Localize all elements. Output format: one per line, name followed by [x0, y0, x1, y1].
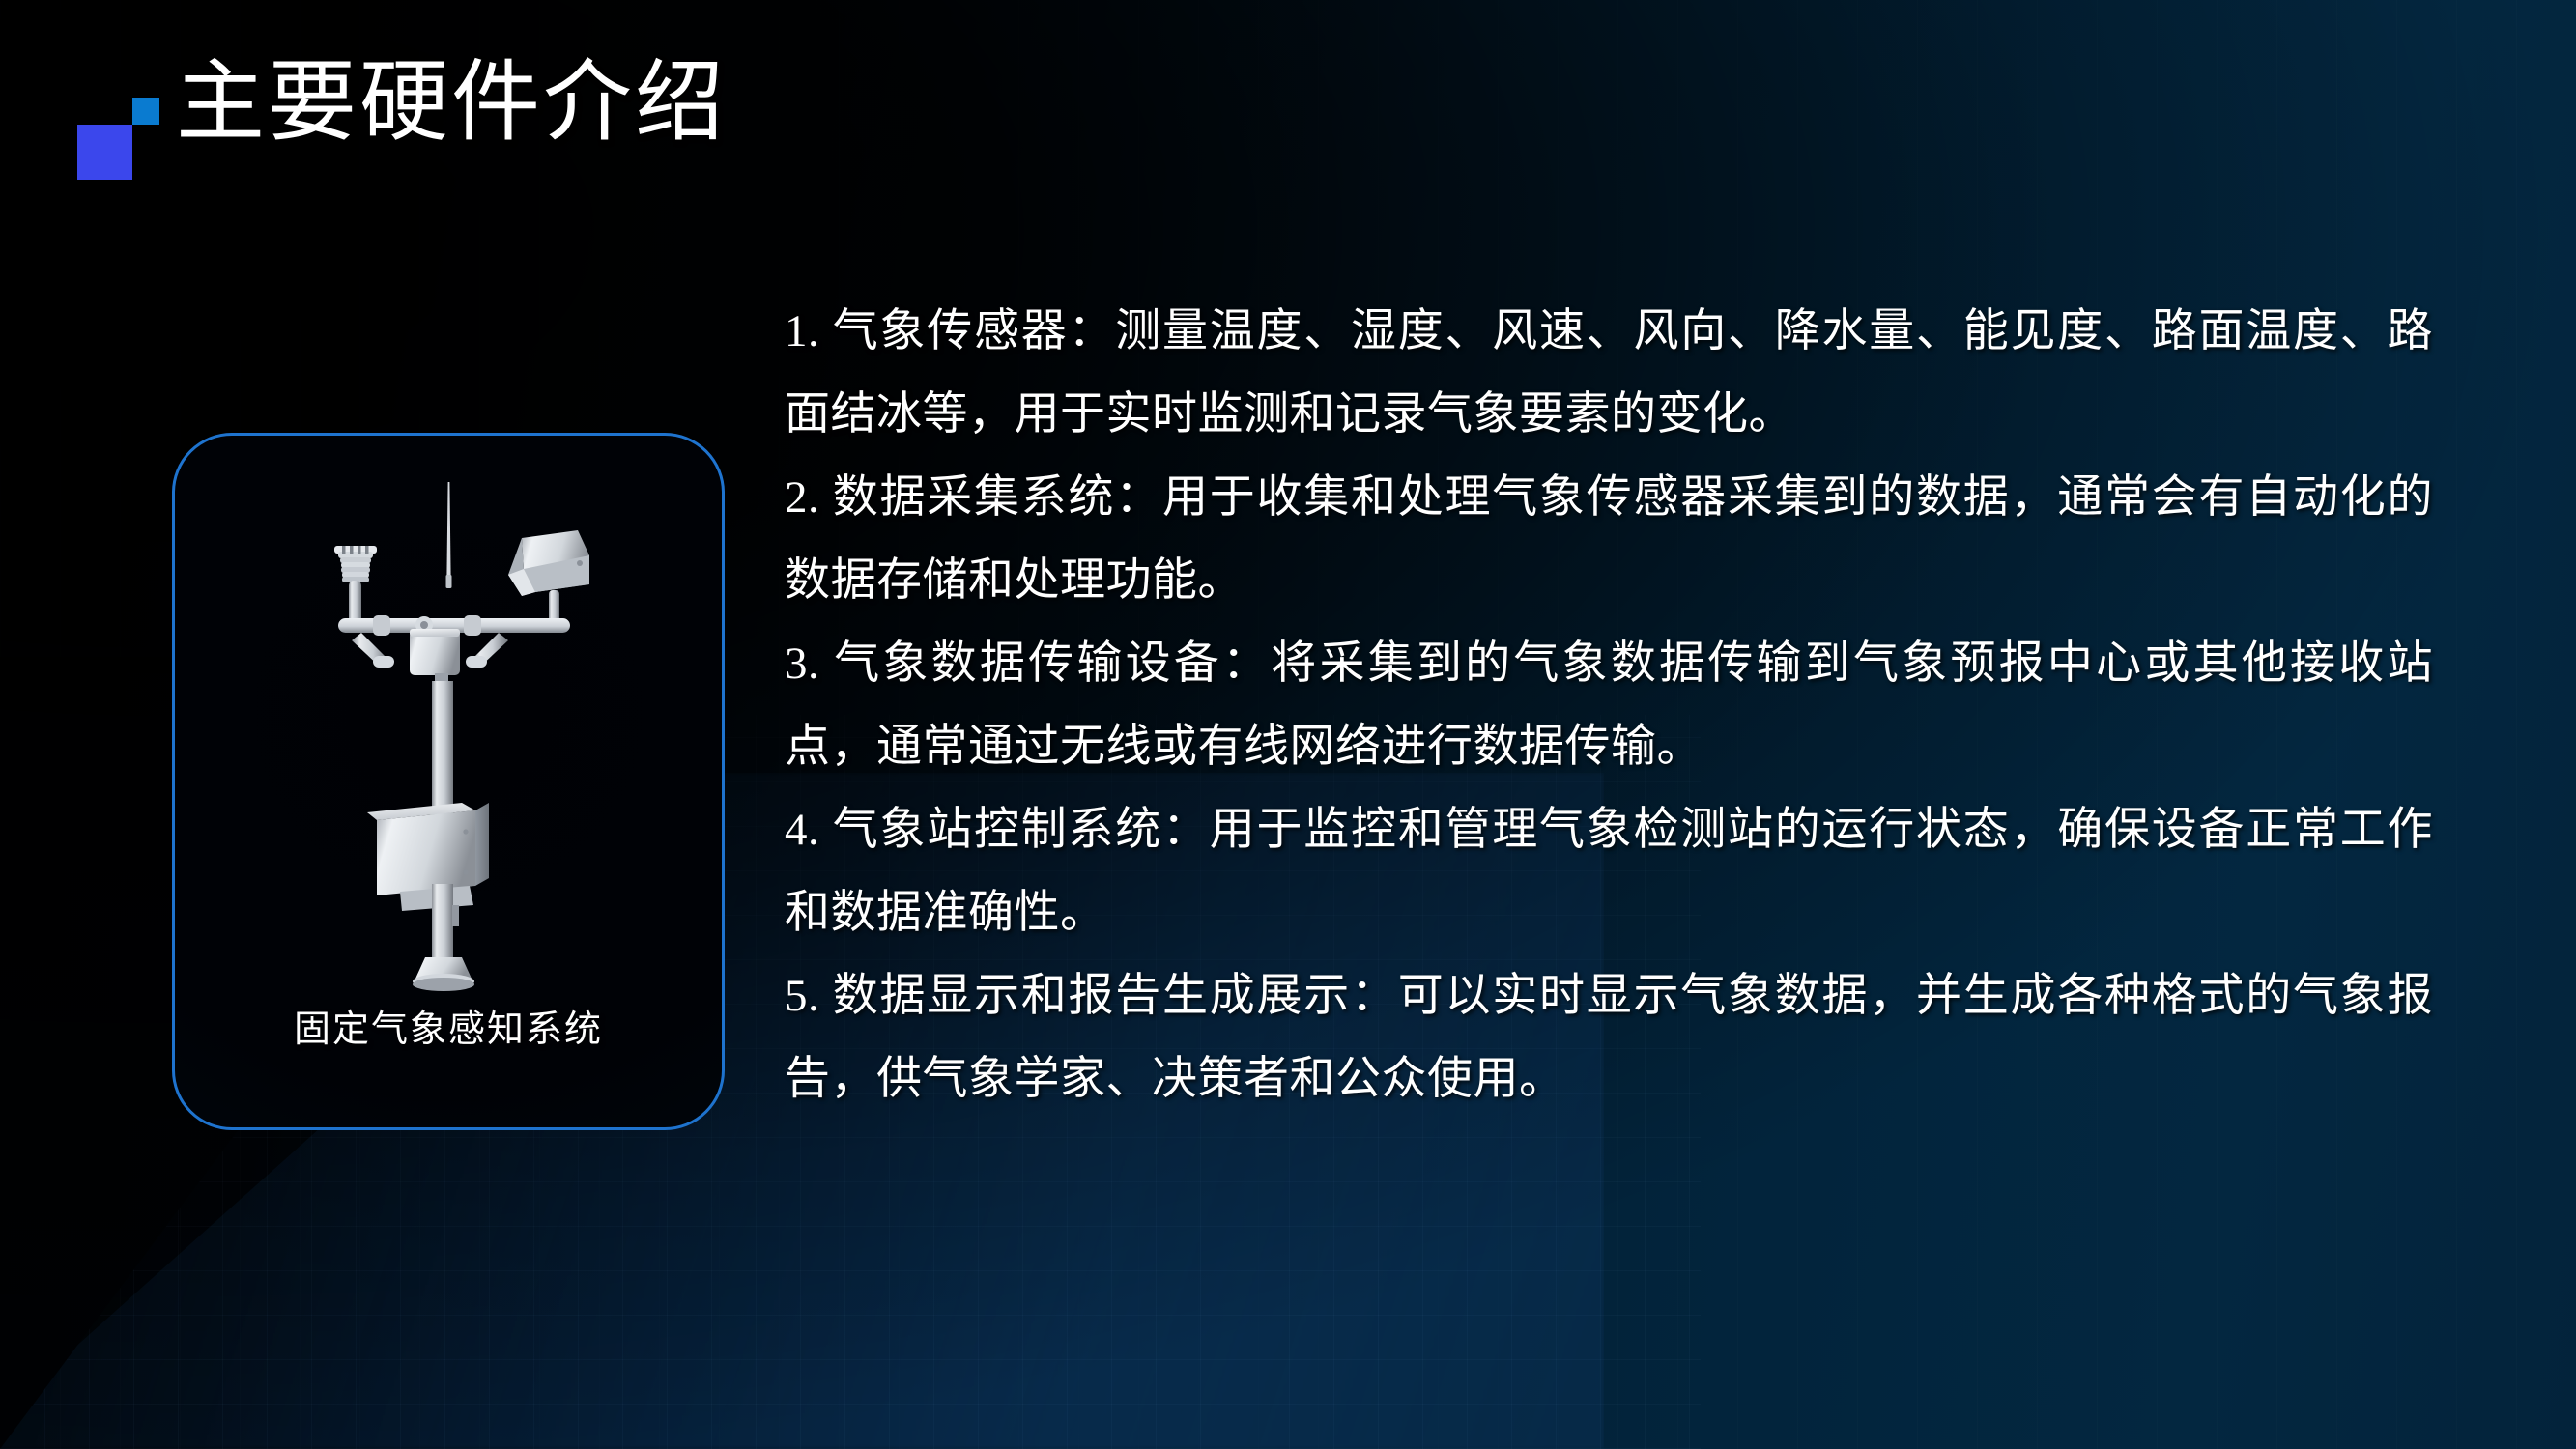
media-card-inner: 固定气象感知系统	[175, 436, 722, 1127]
page-title: 主要硬件介绍	[176, 58, 727, 147]
list-item-text: 气象站控制系统：用于监控和管理气象检测站的运行状态，确保设备正常工作和数据准确性…	[785, 805, 2433, 938]
list-item: 3. 气象数据传输设备：将采集到的气象数据传输到气象预报中心或其他接收站点，通常…	[785, 622, 2433, 788]
control-cabinet-icon	[367, 803, 489, 911]
hardware-description-list: 1. 气象传感器：测量温度、湿度、风速、风向、降水量、能见度、路面温度、路面结冰…	[785, 290, 2433, 1121]
media-card-caption: 固定气象感知系统	[175, 999, 722, 1052]
list-item-text: 数据显示和报告生成展示：可以实时显示气象数据，并生成各种格式的气象报告，供气象学…	[785, 971, 2433, 1104]
logo-mark-icon	[70, 93, 164, 185]
junction-box-icon	[410, 629, 460, 683]
logo-big-square-icon	[77, 125, 132, 180]
list-item-number: 4.	[785, 805, 819, 855]
slide-header: 主要硬件介绍	[70, 58, 727, 185]
base-flange-icon	[413, 957, 474, 991]
weather-station-illustration	[245, 463, 651, 1004]
list-item-number: 1.	[785, 306, 819, 356]
list-item-number: 3.	[785, 639, 819, 689]
list-item: 1. 气象传感器：测量温度、湿度、风速、风向、降水量、能见度、路面温度、路面结冰…	[785, 290, 2433, 456]
list-item-text: 数据采集系统：用于收集和处理气象传感器采集到的数据，通常会有自动化的数据存储和处…	[785, 472, 2433, 606]
list-item: 4. 气象站控制系统：用于监控和管理气象检测站的运行状态，确保设备正常工作和数据…	[785, 788, 2433, 954]
list-item: 5. 数据显示和报告生成展示：可以实时显示气象数据，并生成各种格式的气象报告，供…	[785, 954, 2433, 1121]
pole-lower	[432, 884, 453, 967]
list-item-number: 2.	[785, 472, 819, 523]
list-item-text: 气象数据传输设备：将采集到的气象数据传输到气象预报中心或其他接收站点，通常通过无…	[785, 639, 2433, 772]
slide-root: 主要硬件介绍	[0, 0, 2576, 1449]
antenna-icon	[446, 482, 452, 588]
radiation-shield-icon	[334, 546, 377, 623]
logo-small-square-icon	[132, 98, 159, 125]
pole-upper	[432, 681, 453, 822]
list-item-text: 气象传感器：测量温度、湿度、风速、风向、降水量、能见度、路面温度、路面结冰等，用…	[785, 306, 2433, 440]
list-item-number: 5.	[785, 971, 819, 1021]
list-item: 2. 数据采集系统：用于收集和处理气象传感器采集到的数据，通常会有自动化的数据存…	[785, 456, 2433, 622]
media-card: 固定气象感知系统	[172, 433, 725, 1130]
sensor-housing-icon	[508, 530, 589, 625]
